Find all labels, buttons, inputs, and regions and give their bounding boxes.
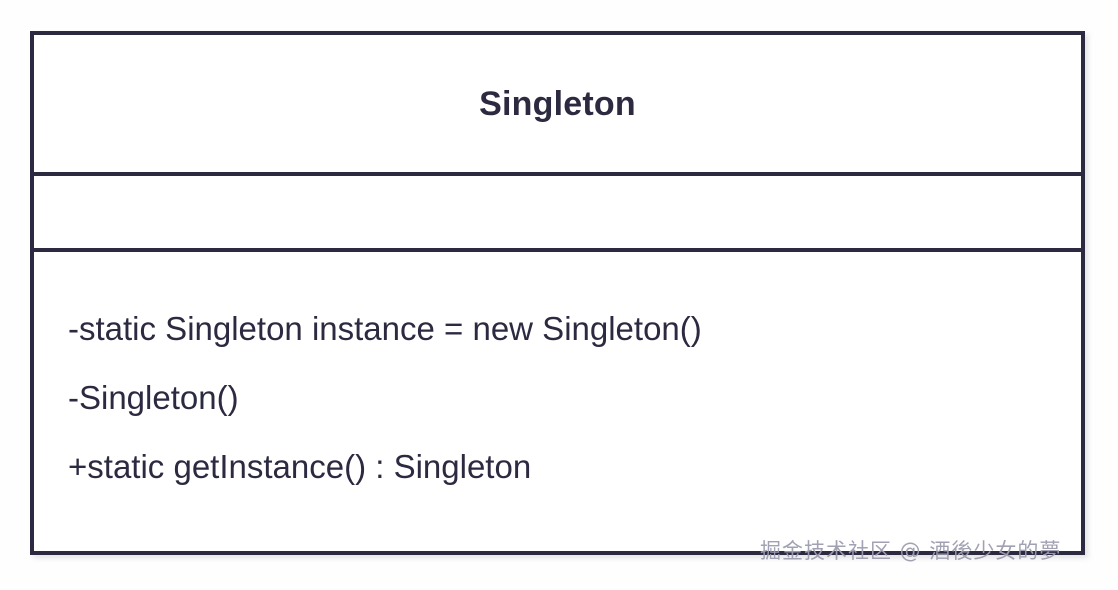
operation-line: -static Singleton instance = new Singlet… [68, 294, 702, 363]
uml-class-box-singleton[interactable]: Singleton -static Singleton instance = n… [30, 31, 1085, 555]
operation-line: -Singleton() [68, 363, 239, 432]
class-name-label: Singleton [479, 87, 636, 121]
class-name-compartment: Singleton [34, 35, 1081, 176]
operation-line: +static getInstance() : Singleton [68, 432, 531, 501]
class-operations-compartment: -static Singleton instance = new Singlet… [34, 252, 1081, 551]
class-attributes-compartment [34, 176, 1081, 252]
diagram-canvas: Singleton -static Singleton instance = n… [0, 0, 1118, 590]
